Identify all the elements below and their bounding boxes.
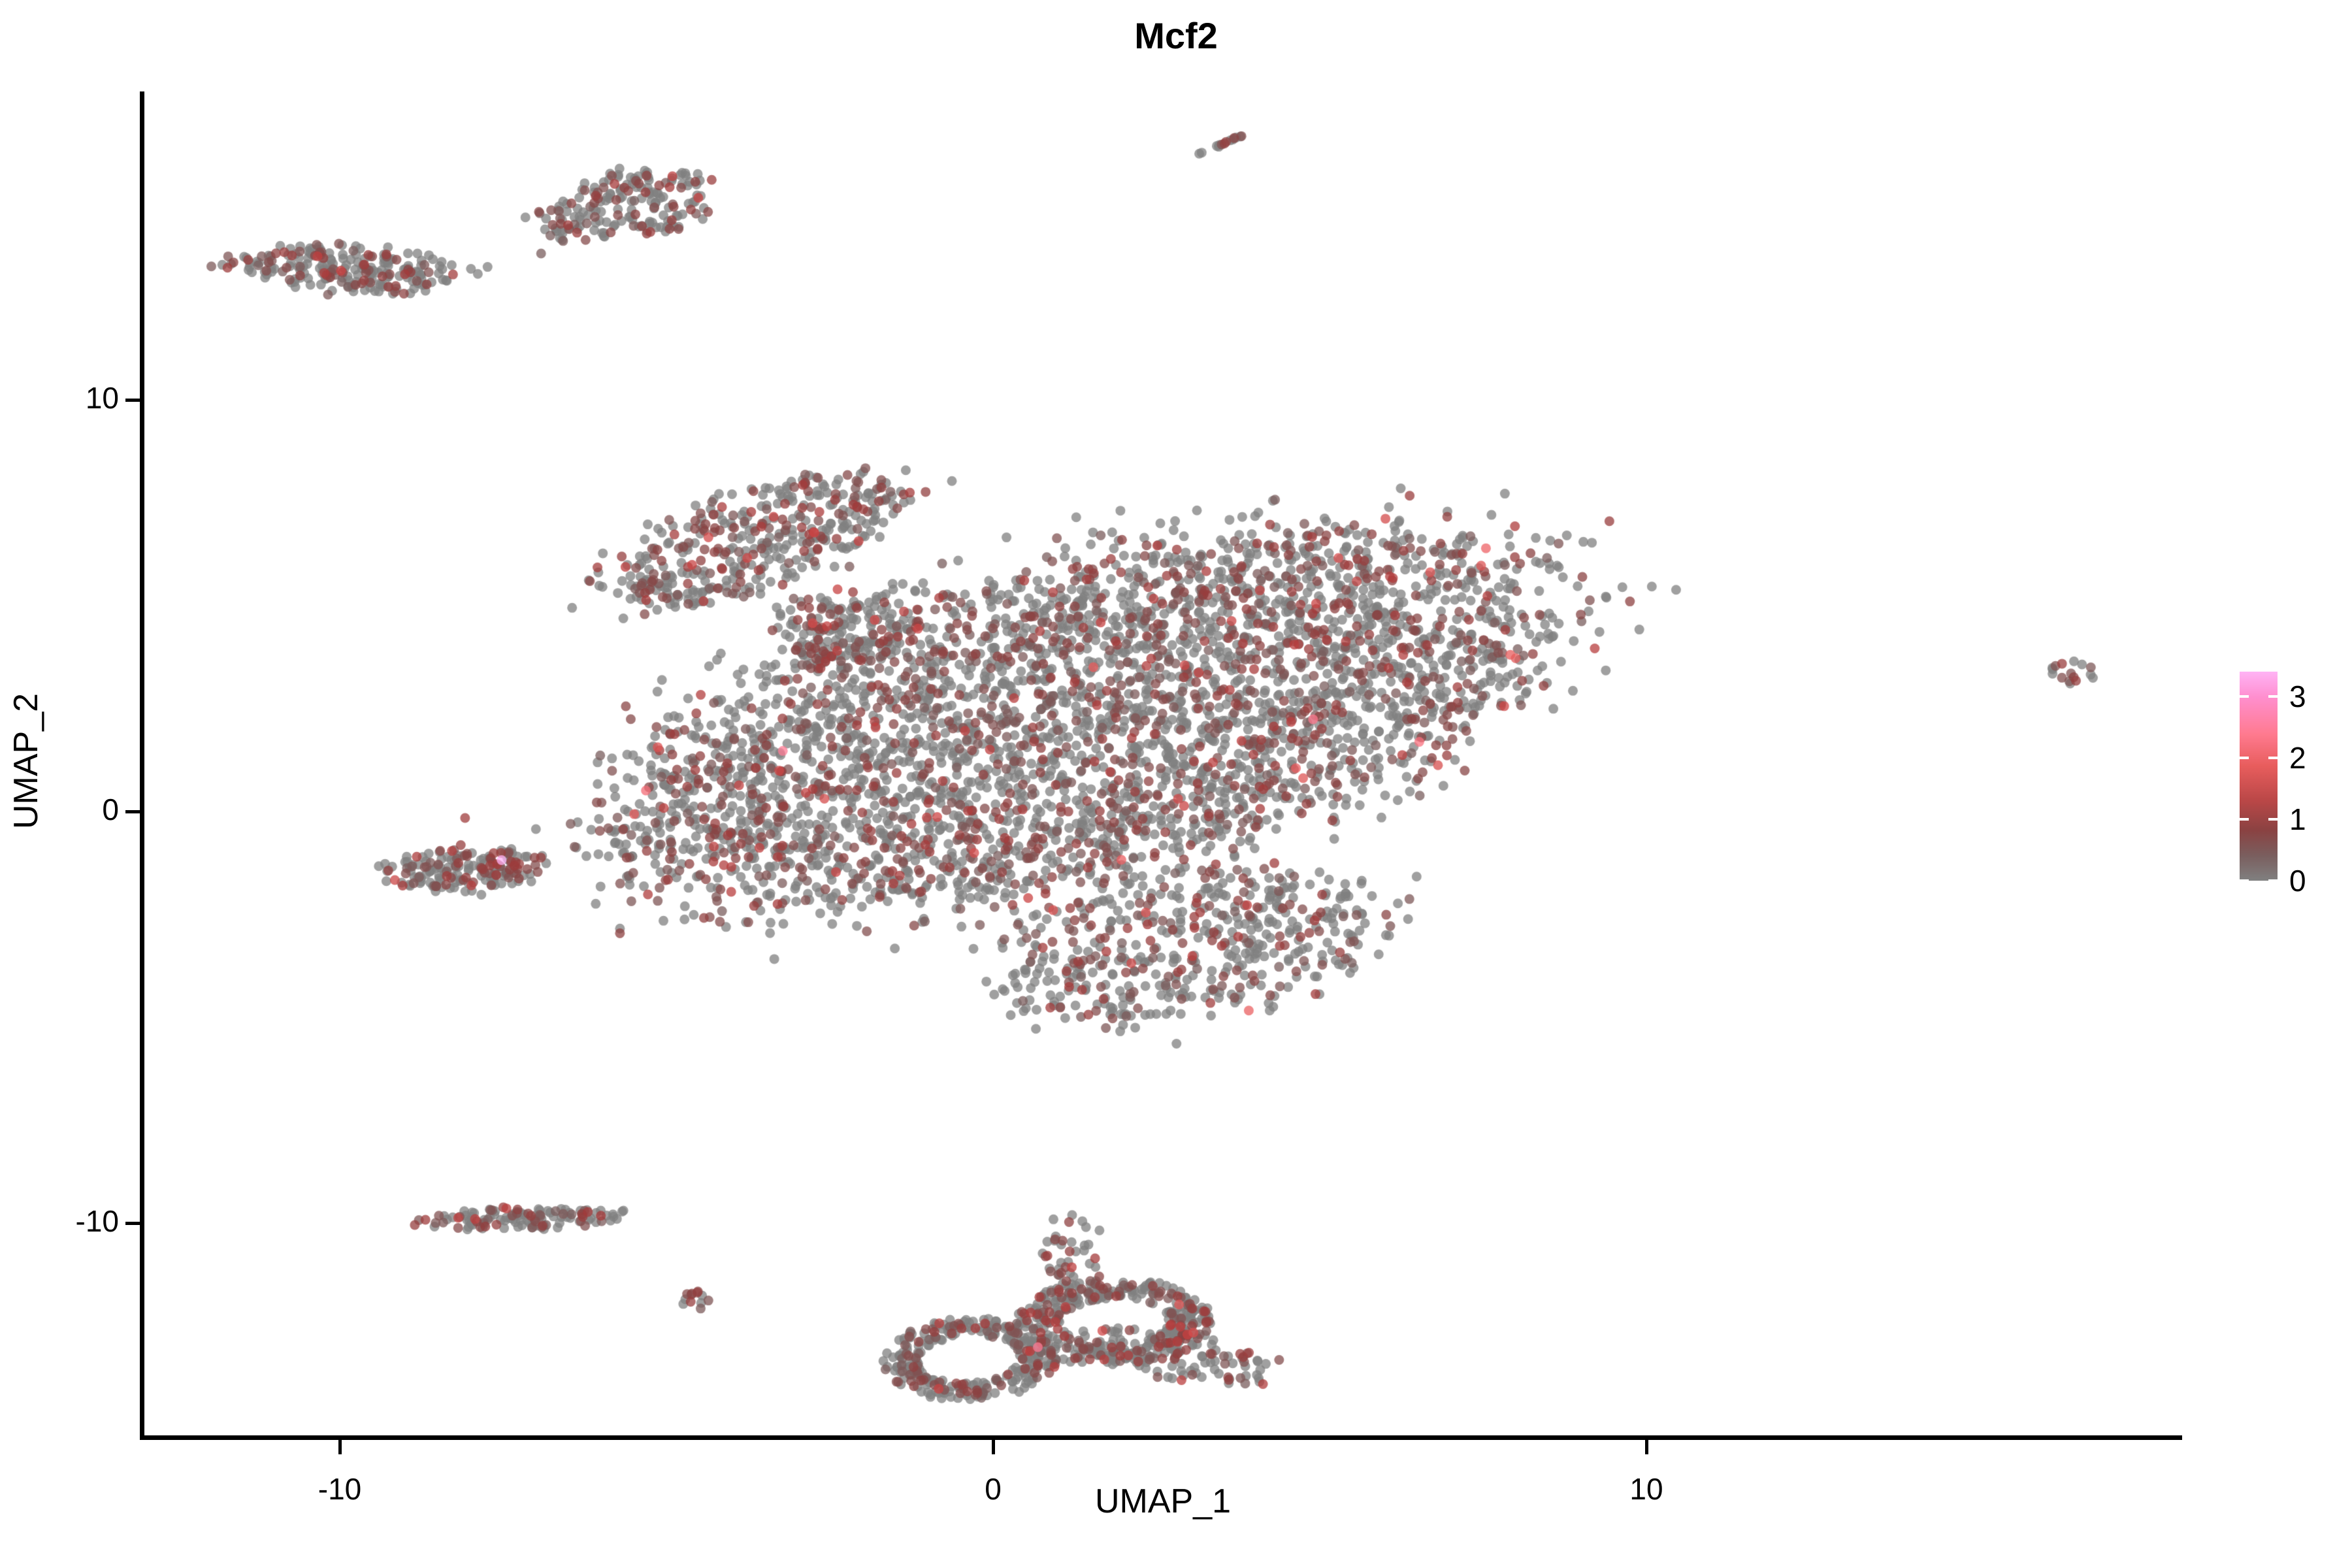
colorbar-tick-0-right (2268, 879, 2278, 882)
x-axis-tick-10 (1645, 1440, 1648, 1454)
legend-colorbar[interactable]: 3 2 1 0 (2240, 672, 2278, 881)
x-axis-title: UMAP_1 (144, 1482, 2182, 1521)
y-axis-tick-0 (125, 810, 140, 813)
x-axis-tick-0 (992, 1440, 995, 1454)
colorbar-label-2: 2 (2289, 740, 2306, 776)
colorbar-label-1: 1 (2289, 802, 2306, 837)
y-axis-tick-neg10 (125, 1222, 140, 1225)
colorbar-gradient (2240, 672, 2278, 881)
y-axis-tick-label-10: 10 (86, 380, 119, 416)
y-axis-line (140, 91, 144, 1439)
colorbar-tick-1-right (2268, 818, 2278, 821)
colorbar-tick-2-left (2240, 757, 2249, 759)
umap-feature-plot: Mcf2 10 0 -10 -10 0 10 UMAP_1 UMAP_2 3 2… (0, 0, 2352, 1568)
colorbar-tick-3-left (2240, 695, 2249, 698)
colorbar-label-3: 3 (2289, 679, 2306, 714)
y-axis-title: UMAP_2 (7, 88, 46, 1434)
page-title: Mcf2 (0, 14, 2352, 57)
colorbar-tick-3-right (2268, 695, 2278, 698)
x-axis-line (140, 1435, 2182, 1440)
plot-panel (144, 91, 2182, 1437)
colorbar-tick-0-left (2240, 879, 2249, 882)
colorbar-label-0: 0 (2289, 863, 2306, 898)
scatter-point-layer (144, 91, 2182, 1437)
colorbar-tick-2-right (2268, 757, 2278, 759)
x-axis-tick-neg10 (338, 1440, 342, 1454)
y-axis-tick-10 (125, 399, 140, 402)
y-axis-tick-label-0: 0 (102, 792, 119, 827)
y-axis-tick-label-neg10: -10 (76, 1203, 119, 1239)
colorbar-tick-1-left (2240, 818, 2249, 821)
